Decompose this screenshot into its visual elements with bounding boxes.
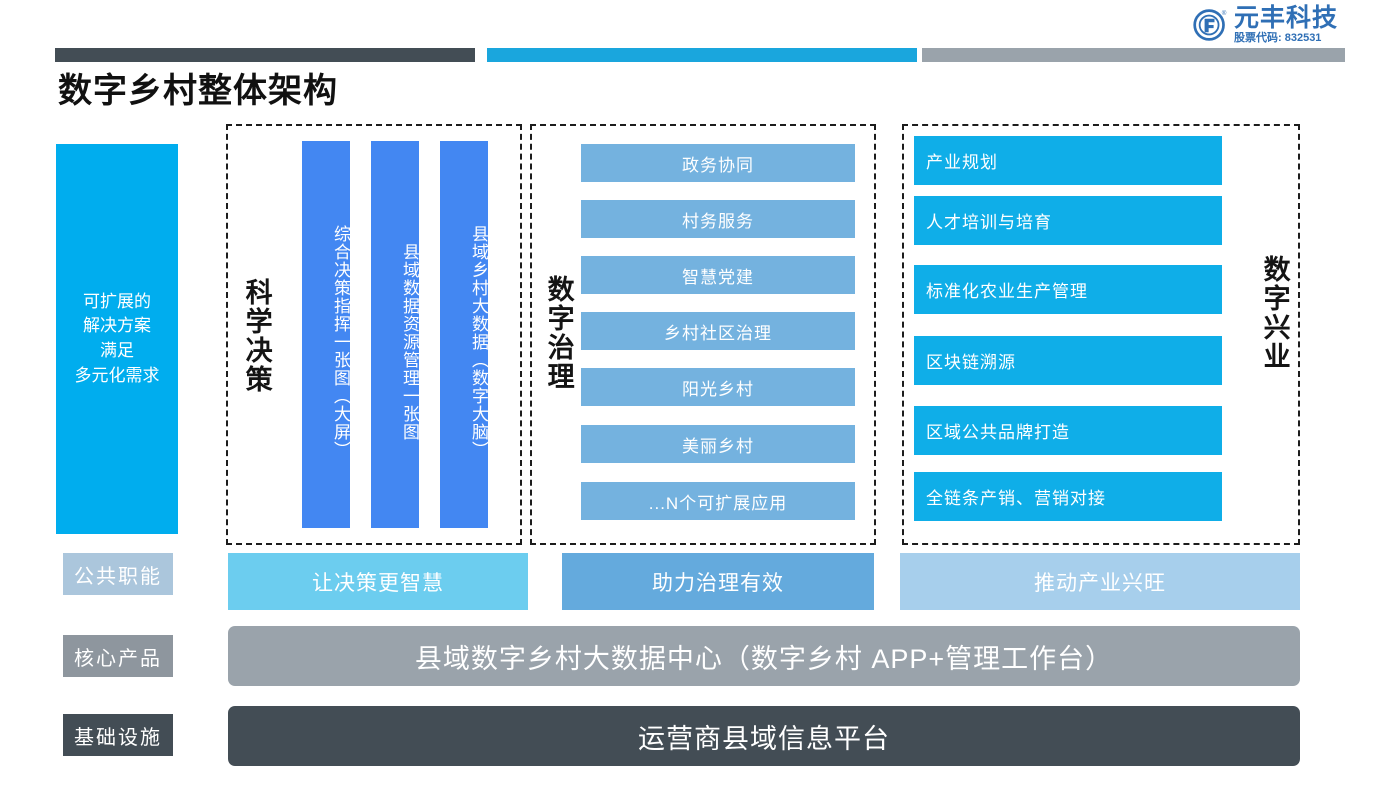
- svg-text:®: ®: [1222, 9, 1227, 17]
- governance-item-2[interactable]: 村务服务: [581, 200, 855, 238]
- infrastructure-bar[interactable]: 运营商县域信息平台: [228, 706, 1300, 766]
- core-product-bar[interactable]: 县域数字乡村大数据中心（数字乡村 APP+管理工作台）: [228, 626, 1300, 686]
- section-caption-governance: 数字治理: [540, 238, 576, 428]
- governance-item-3[interactable]: 智慧党建: [581, 256, 855, 294]
- function-bar-industry[interactable]: 推动产业兴旺: [900, 553, 1300, 610]
- governance-item-4[interactable]: 乡村社区治理: [581, 312, 855, 350]
- governance-item-5[interactable]: 阳光乡村: [581, 368, 855, 406]
- decision-column-3[interactable]: 县域乡村大数据（数字大脑）: [440, 141, 488, 528]
- industry-item-2[interactable]: 人才培训与培育: [914, 196, 1222, 245]
- slide-canvas: ® 元丰科技 股票代码: 832531 数字乡村整体架构 可扩展的 解决方案 满…: [0, 0, 1400, 787]
- brand-name: 元丰科技: [1234, 6, 1338, 31]
- page-title: 数字乡村整体架构: [58, 63, 338, 112]
- header-rule-gray: [922, 48, 1345, 62]
- brand-logo: ® 元丰科技 股票代码: 832531: [1192, 6, 1338, 44]
- header-rule-dark: [55, 48, 475, 62]
- decision-column-2[interactable]: 县域数据资源管理一张图: [371, 141, 419, 528]
- industry-item-4[interactable]: 区块链溯源: [914, 336, 1222, 385]
- governance-item-7[interactable]: ...N个可扩展应用: [581, 482, 855, 520]
- brand-stock-code: 股票代码: 832531: [1234, 33, 1338, 44]
- function-bar-decision[interactable]: 让决策更智慧: [228, 553, 528, 610]
- row-label-infrastructure: 基础设施: [63, 714, 173, 756]
- industry-item-6[interactable]: 全链条产销、营销对接: [914, 472, 1222, 521]
- function-bar-governance[interactable]: 助力治理有效: [562, 553, 874, 610]
- decision-column-1[interactable]: 综合决策指挥一张图（大屏）: [302, 141, 350, 528]
- row-label-public-function: 公共职能: [63, 553, 173, 595]
- industry-item-1[interactable]: 产业规划: [914, 136, 1222, 185]
- header-rule-cyan: [487, 48, 917, 62]
- circle-f-logo-icon: ®: [1192, 7, 1228, 43]
- governance-item-1[interactable]: 政务协同: [581, 144, 855, 182]
- scalable-solution-text: 可扩展的 解决方案 满足 多元化需求: [75, 290, 160, 389]
- governance-item-6[interactable]: 美丽乡村: [581, 425, 855, 463]
- row-label-core-product: 核心产品: [63, 635, 173, 677]
- section-caption-industry: 数字兴业: [1256, 218, 1292, 408]
- industry-item-3[interactable]: 标准化农业生产管理: [914, 265, 1222, 314]
- industry-item-5[interactable]: 区域公共品牌打造: [914, 406, 1222, 455]
- section-caption-decision: 科学决策: [238, 246, 274, 426]
- scalable-solution-panel: 可扩展的 解决方案 满足 多元化需求: [56, 144, 178, 534]
